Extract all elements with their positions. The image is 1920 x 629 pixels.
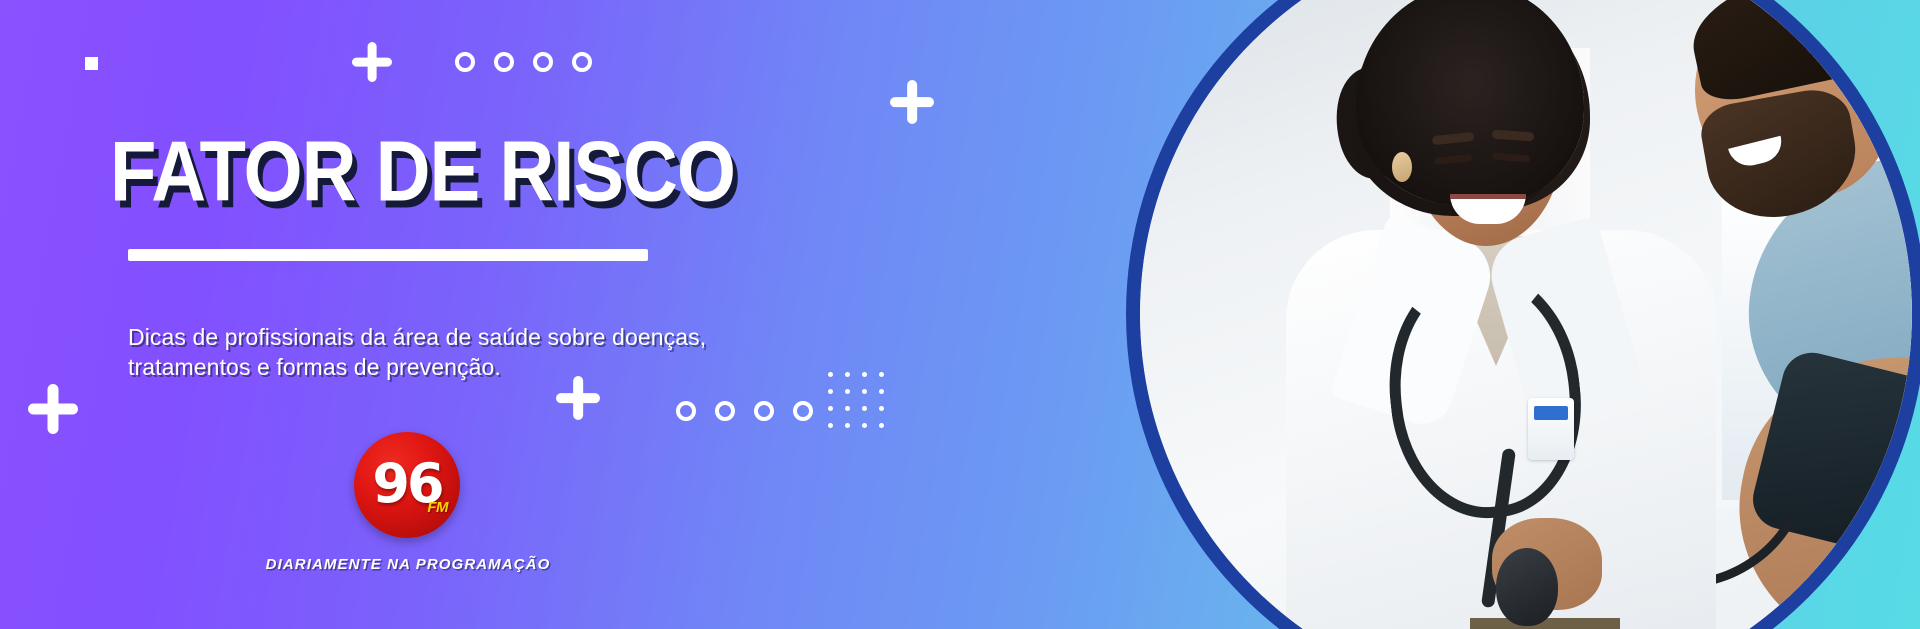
text-column: FATOR DE RISCO Dicas de profissionais da… bbox=[0, 0, 900, 629]
doctor-hair bbox=[1356, 0, 1584, 206]
doctor-patient-photo bbox=[1140, 0, 1912, 629]
sphygmomanometer-bulb bbox=[1496, 548, 1558, 626]
title-underline-rule bbox=[128, 249, 648, 261]
doctor-earring bbox=[1392, 152, 1412, 182]
logo-band-label: FM bbox=[427, 499, 448, 516]
photo-circle-frame bbox=[1126, 0, 1920, 629]
fator-de-risco-banner: FATOR DE RISCO Dicas de profissionais da… bbox=[0, 0, 1920, 629]
radio-station-logo: 96 FM bbox=[354, 432, 460, 538]
page-subtitle: Dicas de profissionais da área de saúde … bbox=[128, 322, 768, 383]
doctor-id-badge bbox=[1528, 398, 1574, 460]
page-title: FATOR DE RISCO bbox=[110, 130, 735, 215]
logo-tagline: DIARIAMENTE NA PROGRAMAÇÃO bbox=[180, 556, 636, 573]
